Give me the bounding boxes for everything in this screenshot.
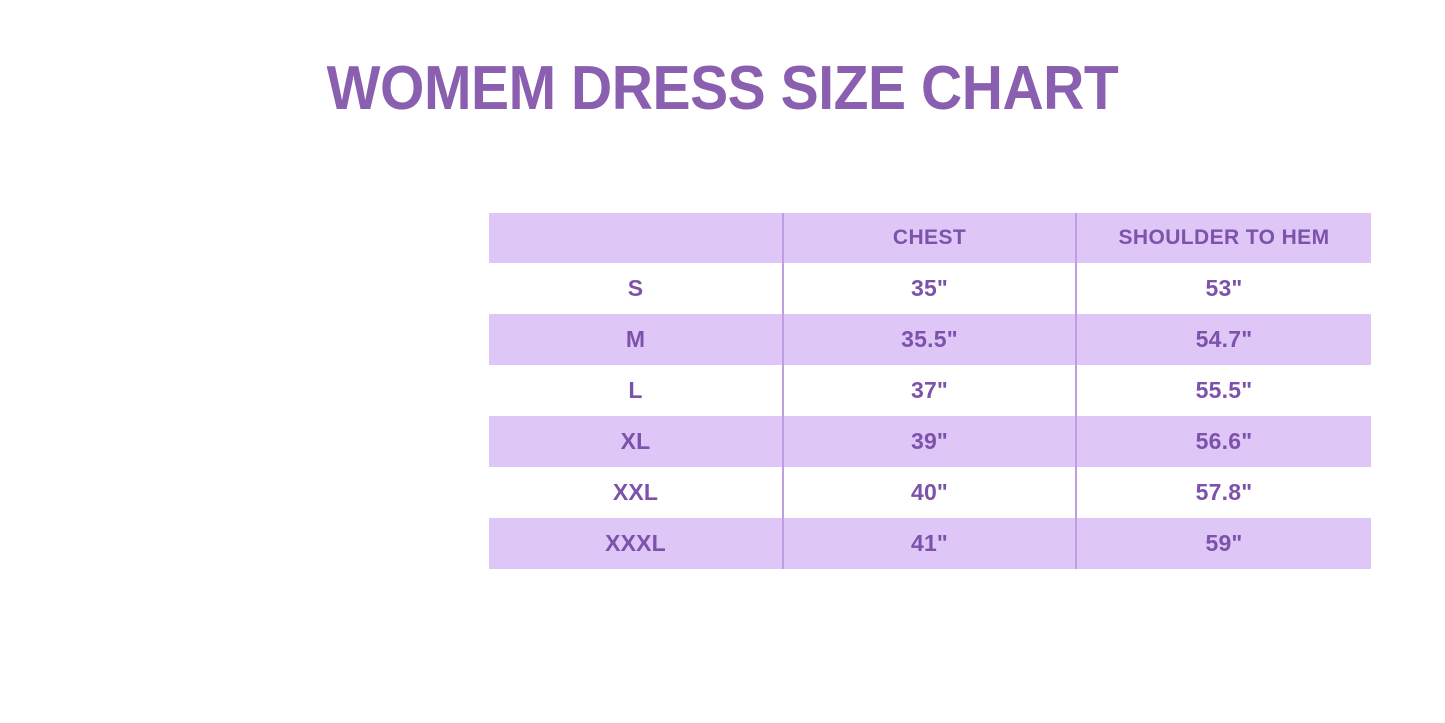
column-header-chest: CHEST	[783, 213, 1076, 263]
cell-chest: 41"	[783, 518, 1076, 569]
cell-chest: 35.5"	[783, 314, 1076, 365]
table-row: S 35" 53"	[489, 263, 1371, 314]
size-chart-page: WOMEM DRESS SIZE CHART CHEST SHOULDER TO…	[0, 0, 1445, 723]
table-row: M 35.5" 54.7"	[489, 314, 1371, 365]
cell-size: XXL	[489, 467, 783, 518]
cell-chest: 35"	[783, 263, 1076, 314]
cell-size: XXXL	[489, 518, 783, 569]
cell-chest: 40"	[783, 467, 1076, 518]
cell-shoulder-to-hem: 57.8"	[1076, 467, 1371, 518]
cell-size: XL	[489, 416, 783, 467]
table-header-row: CHEST SHOULDER TO HEM	[489, 213, 1371, 263]
table-body: S 35" 53" M 35.5" 54.7" L 37" 55.5" XL 3…	[489, 263, 1371, 569]
cell-shoulder-to-hem: 56.6"	[1076, 416, 1371, 467]
column-header-size	[489, 213, 783, 263]
cell-size: S	[489, 263, 783, 314]
cell-size: L	[489, 365, 783, 416]
table-header: CHEST SHOULDER TO HEM	[489, 213, 1371, 263]
cell-shoulder-to-hem: 54.7"	[1076, 314, 1371, 365]
size-chart-table-container: CHEST SHOULDER TO HEM S 35" 53" M 35.5" …	[489, 213, 1371, 569]
cell-shoulder-to-hem: 53"	[1076, 263, 1371, 314]
page-title: WOMEM DRESS SIZE CHART	[58, 52, 1387, 126]
size-chart-table: CHEST SHOULDER TO HEM S 35" 53" M 35.5" …	[489, 213, 1371, 569]
cell-chest: 39"	[783, 416, 1076, 467]
table-row: L 37" 55.5"	[489, 365, 1371, 416]
table-row: XXL 40" 57.8"	[489, 467, 1371, 518]
table-row: XXXL 41" 59"	[489, 518, 1371, 569]
cell-size: M	[489, 314, 783, 365]
column-header-shoulder-to-hem: SHOULDER TO HEM	[1076, 213, 1371, 263]
table-row: XL 39" 56.6"	[489, 416, 1371, 467]
cell-shoulder-to-hem: 59"	[1076, 518, 1371, 569]
cell-shoulder-to-hem: 55.5"	[1076, 365, 1371, 416]
cell-chest: 37"	[783, 365, 1076, 416]
